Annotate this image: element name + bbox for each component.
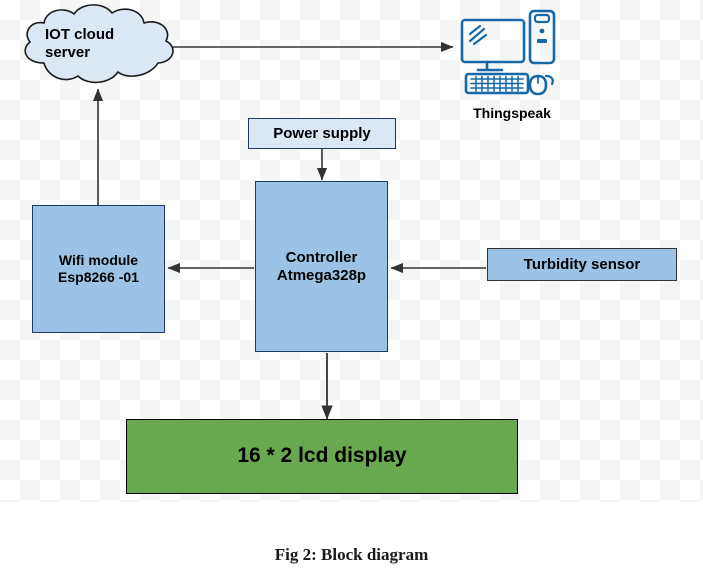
wifi-module-label: Wifi module Esp8266 -01 (58, 252, 139, 285)
block-diagram-figure: IOT cloud server Thingspea (0, 0, 703, 579)
turbidity-sensor-label: Turbidity sensor (524, 256, 640, 274)
block-lcd-display: 16 * 2 lcd display (126, 419, 518, 494)
block-turbidity-sensor: Turbidity sensor (487, 248, 677, 281)
figure-caption: Fig 2: Block diagram (0, 545, 703, 565)
power-supply-label: Power supply (273, 125, 371, 143)
thingspeak-label: Thingspeak (448, 105, 576, 121)
iot-cloud-server-label: IOT cloud server (45, 26, 155, 62)
block-wifi-module-esp8266: Wifi module Esp8266 -01 (32, 205, 165, 333)
desktop-computer-icon (456, 6, 568, 98)
lcd-display-label: 16 * 2 lcd display (237, 444, 406, 469)
block-controller-atmega328p: Controller Atmega328p (255, 181, 388, 352)
block-power-supply: Power supply (248, 118, 396, 149)
controller-label: Controller Atmega328p (277, 249, 366, 284)
